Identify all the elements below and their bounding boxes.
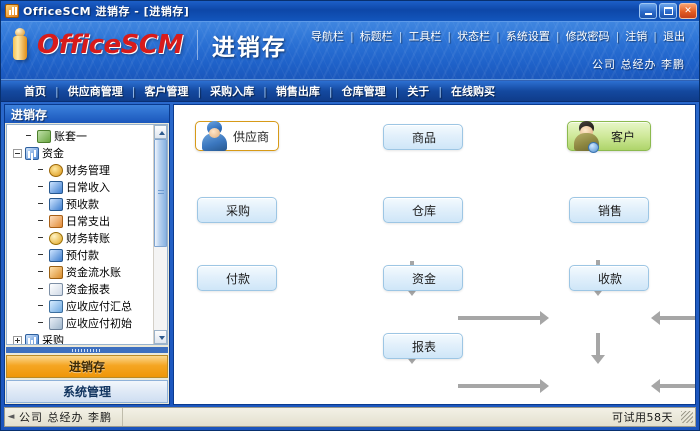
flow-node-sales[interactable]: 销售 bbox=[569, 197, 649, 223]
flow-node-purchase[interactable]: 采购 bbox=[197, 197, 277, 223]
nav-item-home[interactable]: 首页 bbox=[15, 83, 55, 99]
app-chart-icon bbox=[5, 4, 19, 18]
header-menu-item-exit[interactable]: 退出 bbox=[657, 28, 691, 44]
flow-node-label: 报表 bbox=[410, 338, 436, 355]
flow-node-label: 商品 bbox=[410, 129, 436, 146]
income-icon bbox=[49, 198, 63, 211]
arrowhead-receipt-funds bbox=[651, 379, 660, 393]
tree-item[interactable]: 财务管理 bbox=[9, 162, 153, 179]
header-menu-item-settings[interactable]: 系统设置 bbox=[500, 28, 556, 44]
tree-item[interactable]: 日常收入 bbox=[9, 179, 153, 196]
flow-node-label: 销售 bbox=[596, 202, 622, 219]
customer-person-icon bbox=[572, 118, 602, 152]
sidebar-scrollbar[interactable] bbox=[153, 125, 167, 344]
expense-icon bbox=[49, 215, 63, 228]
tree-expander-spacer bbox=[37, 302, 46, 311]
flow-node-label: 仓库 bbox=[410, 202, 436, 219]
flow-diagram-canvas: 供应商商品客户采购仓库销售付款资金收款报表 bbox=[173, 104, 696, 405]
status-bar: ◄ 公司 总经办 李鹏 可试用58天 bbox=[4, 407, 696, 427]
brand-logo: OfficeSCM 进销存 bbox=[11, 28, 287, 62]
arrowhead-sales-warehouse bbox=[651, 311, 660, 325]
tree-expander-spacer bbox=[25, 132, 34, 141]
summary-icon bbox=[49, 300, 63, 313]
tree-item-label: 资金报表 bbox=[66, 284, 110, 295]
flow-node-warehouse[interactable]: 仓库 bbox=[383, 197, 463, 223]
flow-node-label: 付款 bbox=[224, 270, 250, 287]
scroll-up-arrow-icon[interactable] bbox=[154, 125, 167, 139]
arrowhead-purchase-warehouse bbox=[540, 311, 549, 325]
sidebar-header: 进销存 bbox=[5, 105, 169, 123]
book-icon bbox=[37, 130, 51, 143]
application-window: OfficeSCM 进销存 - [进销存] ✕ OfficeSCM 进销存 导航… bbox=[0, 0, 700, 431]
tree-item[interactable]: 预收款 bbox=[9, 196, 153, 213]
flow-icon bbox=[49, 266, 63, 279]
nav-item-warehouse[interactable]: 仓库管理 bbox=[333, 83, 395, 99]
flow-node-payment[interactable]: 付款 bbox=[197, 265, 277, 291]
logo-divider bbox=[197, 30, 198, 60]
sidebar-panel-system-mgmt[interactable]: 系统管理 bbox=[6, 380, 168, 403]
tree-item-label: 财务转账 bbox=[66, 233, 110, 244]
sidebar-panel-jinxiaocun[interactable]: 进销存 bbox=[6, 355, 168, 378]
header-menu-item-logout[interactable]: 注销 bbox=[619, 28, 653, 44]
income-icon bbox=[49, 181, 63, 194]
tree-item[interactable]: 应收应付初始 bbox=[9, 315, 153, 332]
tree-item-label: 预收款 bbox=[66, 199, 99, 210]
tree-item[interactable]: 财务转账 bbox=[9, 230, 153, 247]
body-area: 进销存 账套一资金财务管理日常收入预收款日常支出财务转账预付款资金流水账资金报表… bbox=[1, 102, 699, 405]
flow-node-report[interactable]: 报表 bbox=[383, 333, 463, 359]
flow-node-funds[interactable]: 资金 bbox=[383, 265, 463, 291]
header-company-info: 公司 总经办 李鹏 bbox=[592, 56, 685, 72]
tree-expander-spacer bbox=[37, 200, 46, 209]
header-menu-item-statusbar[interactable]: 状态栏 bbox=[451, 28, 496, 44]
tree-item-label: 日常支出 bbox=[66, 216, 110, 227]
nav-item-about[interactable]: 关于 bbox=[398, 83, 438, 99]
tree-expander-spacer bbox=[37, 319, 46, 328]
arrow-sales-warehouse bbox=[660, 316, 696, 320]
logo-badge-icon bbox=[11, 28, 29, 62]
tree-item-label: 日常收入 bbox=[66, 182, 110, 193]
flow-node-label: 供应商 bbox=[231, 128, 269, 145]
arrow-receipt-funds bbox=[660, 384, 696, 388]
title-bar: OfficeSCM 进销存 - [进销存] ✕ bbox=[1, 1, 699, 21]
nav-item-customers[interactable]: 客户管理 bbox=[135, 83, 197, 99]
flow-node-receipt[interactable]: 收款 bbox=[569, 265, 649, 291]
main-navigation-bar: 首页 | 供应商管理 | 客户管理 | 采购入库 | 销售出库 | 仓库管理 |… bbox=[1, 81, 699, 102]
tree-expander-spacer bbox=[37, 285, 46, 294]
supplier-person-icon bbox=[200, 118, 230, 152]
status-user-info: 公司 总经办 李鹏 bbox=[17, 409, 112, 425]
flow-node-label: 资金 bbox=[410, 270, 436, 287]
report-icon bbox=[49, 283, 63, 296]
flow-node-label: 收款 bbox=[596, 270, 622, 287]
tree-item[interactable]: 应收应付汇总 bbox=[9, 298, 153, 315]
sidebar-tree-container: 账套一资金财务管理日常收入预收款日常支出财务转账预付款资金流水账资金报表应收应付… bbox=[6, 124, 168, 345]
tree-expander-spacer bbox=[37, 268, 46, 277]
arrow-purchase-warehouse bbox=[458, 316, 542, 320]
expand-plus-icon[interactable] bbox=[13, 336, 22, 344]
tree-item-label: 应收应付汇总 bbox=[66, 301, 132, 312]
tree-expander-spacer bbox=[37, 166, 46, 175]
tree-item-label: 资金 bbox=[42, 148, 64, 159]
tree-item-label: 采购 bbox=[42, 335, 64, 344]
close-button[interactable]: ✕ bbox=[679, 3, 697, 19]
flow-node-goods[interactable]: 商品 bbox=[383, 124, 463, 150]
statusbar-collapse-icon[interactable]: ◄ bbox=[5, 412, 17, 422]
tree-item-label: 财务管理 bbox=[66, 165, 110, 176]
initial-icon bbox=[49, 317, 63, 330]
header-menu-item-titlebar[interactable]: 标题栏 bbox=[354, 28, 399, 44]
chart-icon bbox=[25, 147, 39, 160]
header-menu: 导航栏 | 标题栏 | 工具栏 | 状态栏 | 系统设置 | 修改密码 | 注销… bbox=[305, 28, 691, 44]
scrollbar-thumb[interactable] bbox=[154, 139, 167, 247]
resize-grip-icon[interactable] bbox=[681, 411, 693, 423]
scrollbar-track[interactable] bbox=[154, 139, 167, 330]
status-trial-info: 可试用58天 bbox=[612, 409, 681, 425]
tree-item[interactable]: 资金流水账 bbox=[9, 264, 153, 281]
header-menu-item-navbar[interactable]: 导航栏 bbox=[305, 28, 350, 44]
logo-subtitle: 进销存 bbox=[212, 28, 287, 62]
arrowhead-payment-funds bbox=[540, 379, 549, 393]
arrow-payment-funds bbox=[458, 384, 542, 388]
logo-wordmark: OfficeSCM bbox=[37, 32, 183, 58]
income-icon bbox=[49, 249, 63, 262]
nav-item-suppliers[interactable]: 供应商管理 bbox=[59, 83, 132, 99]
tree-item[interactable]: 资金报表 bbox=[9, 281, 153, 298]
tree-item[interactable]: 资金 bbox=[9, 145, 153, 162]
header-menu-item-password[interactable]: 修改密码 bbox=[560, 28, 616, 44]
tree-item[interactable]: 账套一 bbox=[9, 128, 153, 145]
sidebar: 进销存 账套一资金财务管理日常收入预收款日常支出财务转账预付款资金流水账资金报表… bbox=[4, 104, 170, 405]
tree-item[interactable]: 采购 bbox=[9, 332, 153, 344]
flow-node-customer[interactable]: 客户 bbox=[567, 121, 651, 151]
tree-expander-spacer bbox=[37, 183, 46, 192]
sidebar-panel-buttons: 进销存 系统管理 bbox=[5, 346, 169, 404]
sidebar-splitter-grip[interactable] bbox=[6, 347, 168, 353]
arrow-warehouse-funds bbox=[596, 333, 600, 357]
app-header-banner: OfficeSCM 进销存 导航栏 | 标题栏 | 工具栏 | 状态栏 | 系统… bbox=[1, 21, 699, 81]
tree-item-label: 账套一 bbox=[54, 131, 87, 142]
minimize-button[interactable] bbox=[639, 3, 657, 19]
flow-node-label: 采购 bbox=[224, 202, 250, 219]
maximize-button[interactable] bbox=[659, 3, 677, 19]
window-title: OfficeSCM 进销存 - [进销存] bbox=[23, 3, 189, 19]
nav-item-purchase[interactable]: 采购入库 bbox=[201, 83, 263, 99]
header-menu-item-toolbar[interactable]: 工具栏 bbox=[402, 28, 447, 44]
tree-expander-spacer bbox=[37, 234, 46, 243]
window-controls: ✕ bbox=[639, 3, 697, 19]
nav-item-sales[interactable]: 销售出库 bbox=[267, 83, 329, 99]
nav-item-buy[interactable]: 在线购买 bbox=[442, 83, 504, 99]
coin-icon bbox=[49, 232, 63, 245]
chart-icon bbox=[25, 334, 39, 344]
tree-item[interactable]: 预付款 bbox=[9, 247, 153, 264]
scroll-down-arrow-icon[interactable] bbox=[154, 330, 167, 344]
sidebar-tree: 账套一资金财务管理日常收入预收款日常支出财务转账预付款资金流水账资金报表应收应付… bbox=[7, 125, 153, 344]
tree-item[interactable]: 日常支出 bbox=[9, 213, 153, 230]
arrowhead-warehouse-funds bbox=[591, 355, 605, 364]
status-spacer bbox=[122, 408, 612, 426]
tree-item-label: 应收应付初始 bbox=[66, 318, 132, 329]
money-icon bbox=[49, 164, 63, 177]
tree-expander-spacer bbox=[37, 251, 46, 260]
flow-node-label: 客户 bbox=[609, 128, 635, 145]
tree-expander-spacer bbox=[37, 217, 46, 226]
tree-item-label: 预付款 bbox=[66, 250, 99, 261]
collapse-minus-icon[interactable] bbox=[13, 149, 22, 158]
tree-item-label: 资金流水账 bbox=[66, 267, 121, 278]
flow-node-supplier[interactable]: 供应商 bbox=[195, 121, 279, 151]
